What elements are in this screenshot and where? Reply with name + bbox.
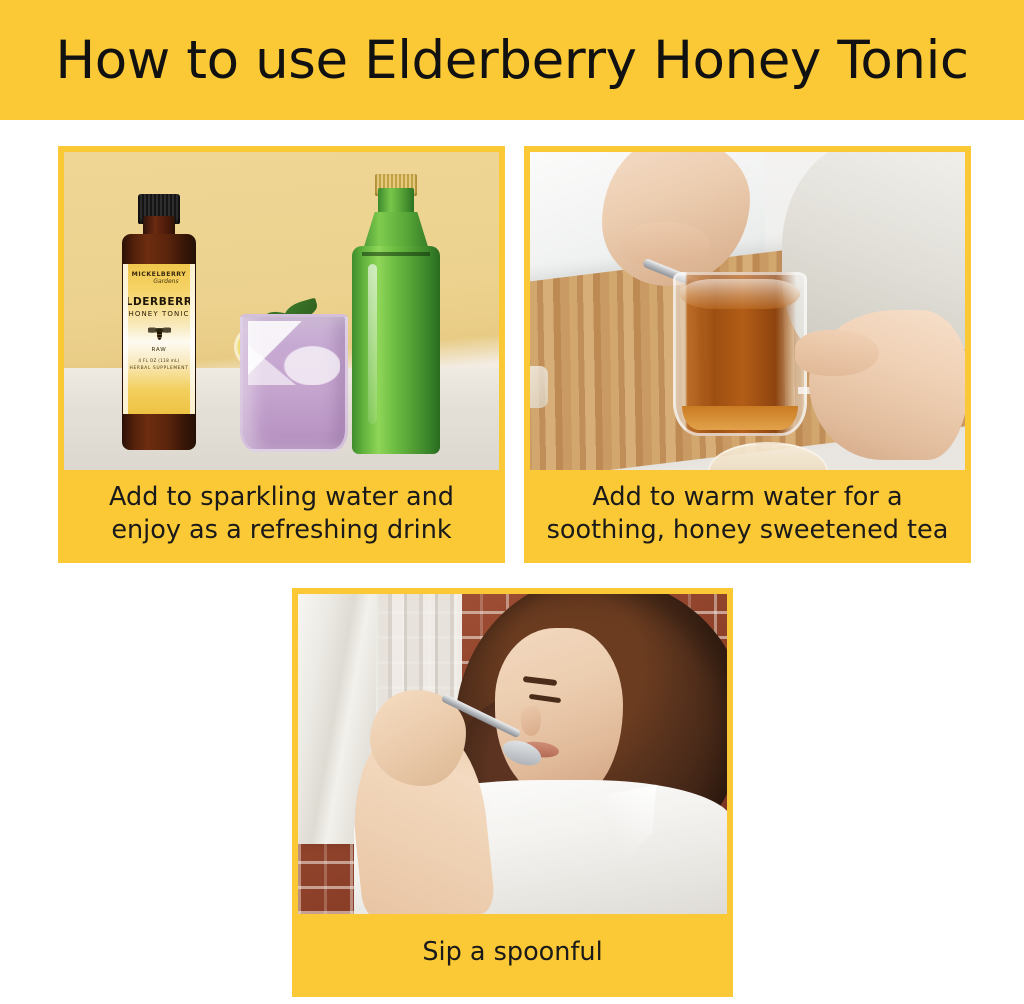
title-banner: How to use Elderberry Honey Tonic [0, 0, 1024, 120]
card-caption-area: Add to warm water for a soothing, honey … [530, 470, 965, 563]
label-product-subtitle: HONEY TONIC [128, 310, 189, 318]
photo-warm-tea-mug [530, 152, 965, 470]
card-caption-text: Add to warm water for a soothing, honey … [544, 481, 951, 546]
label-brand-script: Gardens [153, 278, 178, 285]
label-volume: 4 FL OZ (118 mL) [138, 358, 179, 363]
glass-mug-of-tea [673, 272, 807, 436]
card-caption-area: Add to sparkling water and enjoy as a re… [64, 470, 499, 563]
tea-surface [680, 279, 800, 309]
label-category: HERBAL SUPPLEMENT [130, 366, 189, 371]
bottle-label-band [362, 252, 430, 256]
bee-icon [148, 326, 170, 342]
photo-woman-sipping-spoonful [298, 594, 727, 914]
nose [521, 706, 541, 736]
usage-card-spoonful: Sip a spoonful [292, 588, 733, 997]
bottle-highlight [368, 264, 377, 424]
usage-card-warm-water-tea: Add to warm water for a soothing, honey … [524, 146, 971, 563]
sparkling-water-bottle [352, 172, 440, 454]
tonic-bottle-label: MICKELBERRY Gardens ELDERBERRY HONEY TON… [123, 264, 195, 414]
card-caption-text: Sip a spoonful [422, 936, 602, 969]
face [495, 628, 623, 800]
label-product-name: ELDERBERRY [123, 296, 195, 308]
hand-holding-mug [809, 310, 965, 460]
label-brand-name: MICKELBERRY [132, 271, 187, 278]
tea-bottom-glow [682, 406, 798, 430]
label-grade: RAW [151, 347, 166, 353]
background-glass-left [530, 366, 548, 408]
page-title: How to use Elderberry Honey Tonic [55, 34, 968, 87]
bottle-body-green [352, 246, 440, 454]
usage-card-sparkling-water: MICKELBERRY Gardens ELDERBERRY HONEY TON… [58, 146, 505, 563]
photo-sparkling-water-drink: MICKELBERRY Gardens ELDERBERRY HONEY TON… [64, 152, 499, 470]
card-caption-text: Add to sparkling water and enjoy as a re… [78, 481, 485, 546]
card-caption-area: Sip a spoonful [298, 914, 727, 997]
infographic-page: How to use Elderberry Honey Tonic [0, 0, 1024, 1004]
purple-iced-drink-glass [240, 314, 348, 452]
elderberry-honey-tonic-bottle: MICKELBERRY Gardens ELDERBERRY HONEY TON… [122, 192, 196, 450]
ice-cubes [248, 321, 340, 385]
